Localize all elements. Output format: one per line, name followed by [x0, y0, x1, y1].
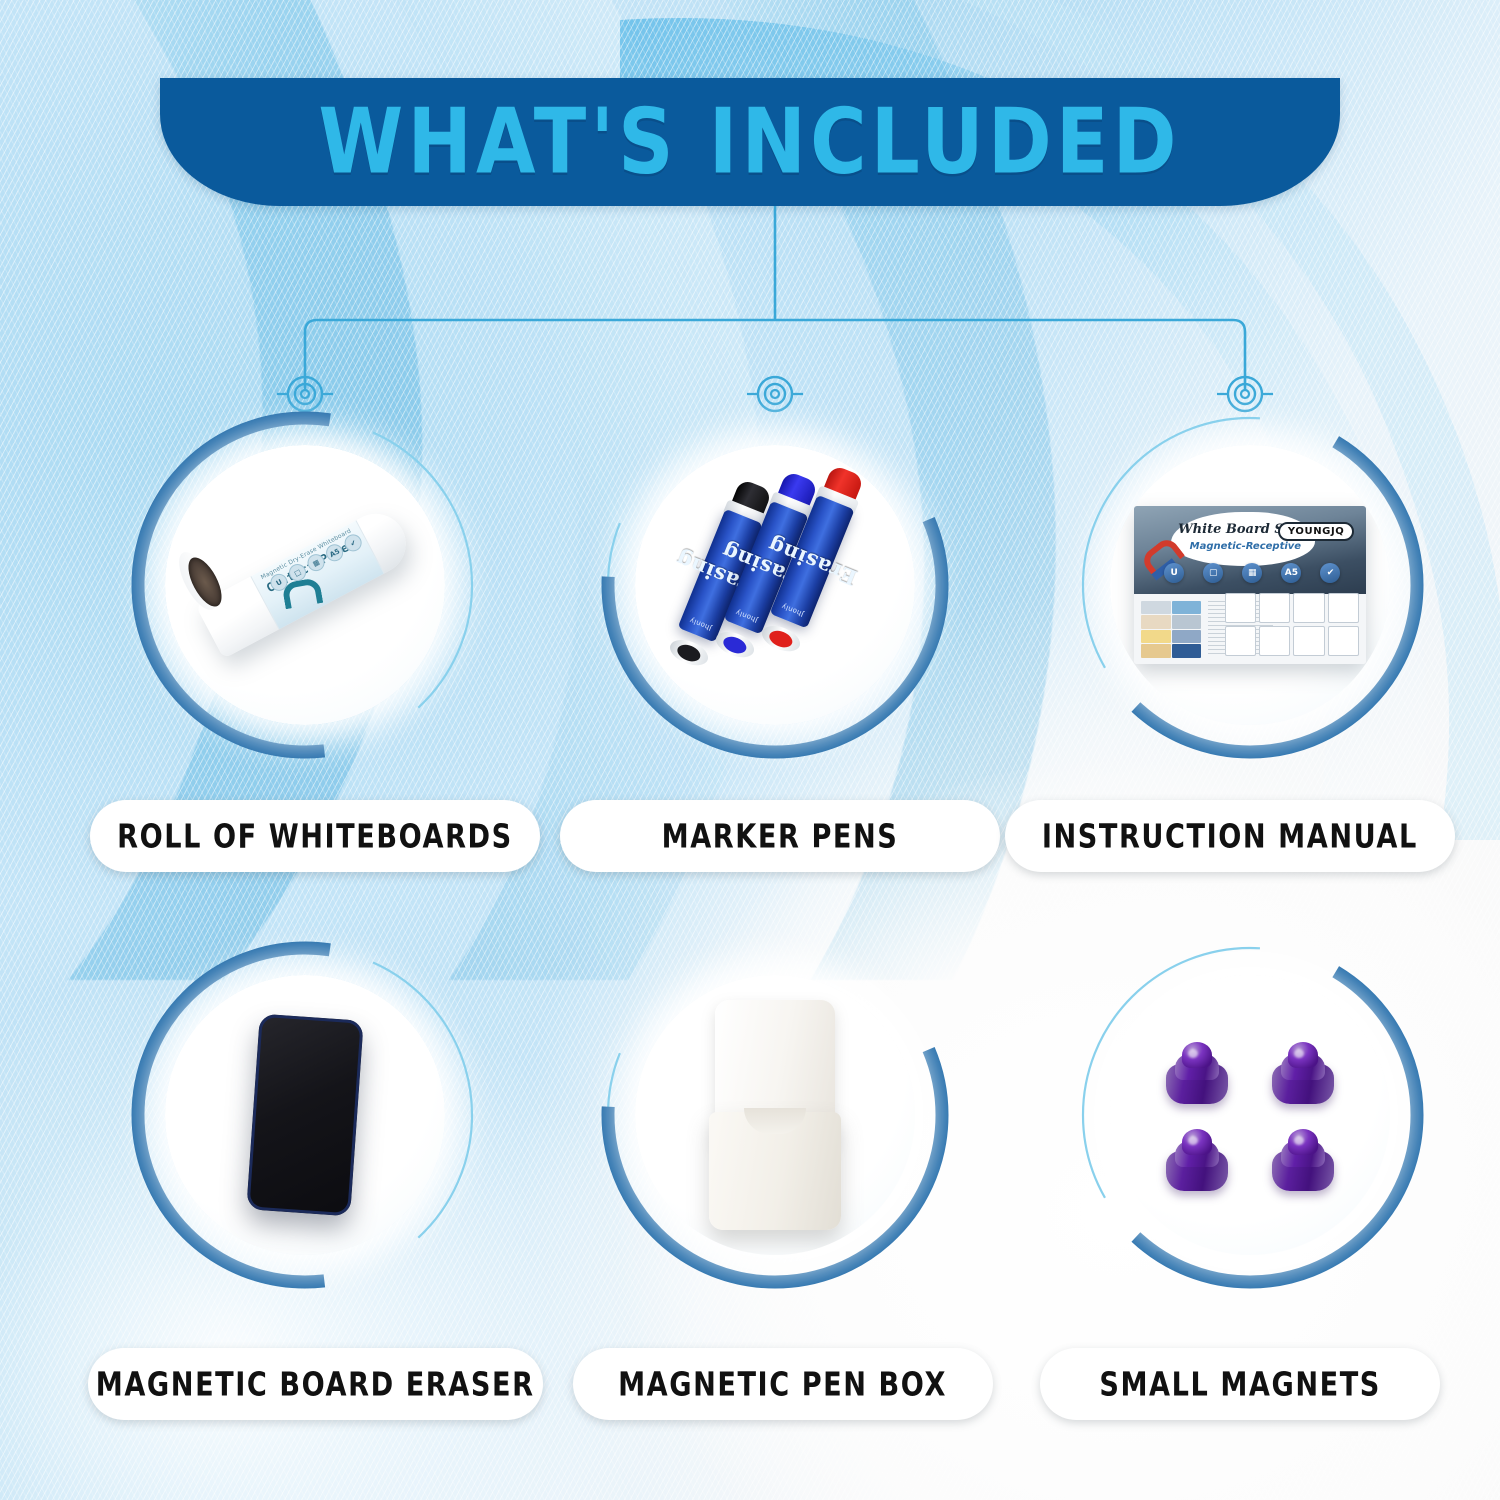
- item-circle: Erasing Jhonly Erasing Jhonly: [610, 420, 940, 750]
- small-magnets-art: [1155, 1035, 1345, 1195]
- item-label-roll-of-whiteboards: ROLL OF WHITEBOARDS: [90, 800, 540, 872]
- item-card-instruction-manual[interactable]: White Board Sticker Magnetic-Receptive Y…: [1030, 420, 1470, 750]
- pen-end-cap: [712, 627, 757, 662]
- grid-icon: ▦: [1242, 563, 1262, 583]
- manual-color-swatches: [1141, 601, 1201, 658]
- size-badge-a5: A5: [1281, 563, 1301, 583]
- pen-brand-mini: Jhonly: [688, 616, 712, 632]
- item-circle: [610, 950, 940, 1280]
- pen-ink-dot: [721, 633, 749, 656]
- infographic-canvas: WHAT'S INCLUDED: [0, 0, 1500, 1500]
- brand-badge: YOUNGJQ: [1278, 522, 1355, 541]
- instruction-manual-art: White Board Sticker Magnetic-Receptive Y…: [1134, 506, 1366, 664]
- item-card-marker-pens[interactable]: Erasing Jhonly Erasing Jhonly: [555, 420, 995, 750]
- product-photo-roll: Magnetic Dry-Erase Whiteboard Contact Pa…: [165, 445, 445, 725]
- magnet-piece: [1272, 1040, 1334, 1104]
- magnet-piece: [1166, 1127, 1228, 1191]
- pen-box-art: [709, 1000, 841, 1230]
- product-photo-magnets: [1110, 975, 1390, 1255]
- page-title: WHAT'S INCLUDED: [319, 97, 1181, 187]
- magnet-piece: [1272, 1127, 1334, 1191]
- item-label-text: MAGNETIC PEN BOX: [619, 1365, 948, 1404]
- product-photo-eraser: [165, 975, 445, 1255]
- item-card-small-magnets[interactable]: [1030, 950, 1470, 1280]
- item-label-small-magnets: SMALL MAGNETS: [1040, 1348, 1440, 1420]
- item-label-text: INSTRUCTION MANUAL: [1042, 817, 1418, 856]
- check-icon: ✔: [1320, 563, 1340, 583]
- product-photo-pens: Erasing Jhonly Erasing Jhonly: [635, 445, 915, 725]
- roll-wrapper-label: Magnetic Dry-Erase Whiteboard Contact Pa…: [250, 520, 384, 629]
- item-card-magnetic-board-eraser[interactable]: [85, 950, 525, 1280]
- pen-end-cap: [666, 635, 711, 670]
- item-card-magnetic-pen-box[interactable]: [555, 950, 995, 1280]
- pen-end-cap: [758, 621, 803, 656]
- item-label-marker-pens: MARKER PENS: [560, 800, 1000, 872]
- item-label-text: MAGNETIC BOARD ERASER: [96, 1365, 535, 1404]
- product-photo-pen-box: [635, 975, 915, 1255]
- product-photo-manual: White Board Sticker Magnetic-Receptive Y…: [1110, 445, 1390, 725]
- whiteboard-roll-art: Magnetic Dry-Erase Whiteboard Contact Pa…: [179, 459, 431, 711]
- roll-body: Magnetic Dry-Erase Whiteboard Contact Pa…: [196, 503, 417, 658]
- item-circle: [140, 950, 470, 1280]
- pen-ink-dot: [675, 641, 703, 664]
- marker-pens-art: Erasing Jhonly Erasing Jhonly: [650, 460, 900, 710]
- pen-ink-dot: [767, 627, 795, 650]
- item-circle: Magnetic Dry-Erase Whiteboard Contact Pa…: [140, 420, 470, 750]
- item-card-roll-of-whiteboards[interactable]: Magnetic Dry-Erase Whiteboard Contact Pa…: [85, 420, 525, 750]
- pen-brand-mini: Jhonly: [734, 608, 758, 624]
- magnet-piece: [1166, 1040, 1228, 1104]
- item-label-text: ROLL OF WHITEBOARDS: [117, 817, 513, 856]
- item-circle: White Board Sticker Magnetic-Receptive Y…: [1085, 420, 1415, 750]
- header-banner: WHAT'S INCLUDED: [160, 78, 1340, 206]
- item-label-text: SMALL MAGNETS: [1099, 1365, 1381, 1404]
- manual-feature-icons: U ▢ ▦ A5 ✔: [1164, 563, 1340, 583]
- manual-step-diagrams: [1225, 593, 1360, 656]
- item-label-magnetic-pen-box: MAGNETIC PEN BOX: [573, 1348, 993, 1420]
- pen-brand-mini: Jhonly: [780, 602, 804, 618]
- magnet-icon: U: [1164, 563, 1184, 583]
- item-label-instruction-manual: INSTRUCTION MANUAL: [1005, 800, 1455, 872]
- item-circle: [1085, 950, 1415, 1280]
- item-label-magnetic-board-eraser: MAGNETIC BOARD ERASER: [88, 1348, 543, 1420]
- sticker-icon: ▢: [1203, 563, 1223, 583]
- item-label-text: MARKER PENS: [662, 817, 899, 856]
- board-eraser-art: [246, 1014, 363, 1217]
- manual-subtitle: Magnetic-Receptive: [1190, 541, 1301, 552]
